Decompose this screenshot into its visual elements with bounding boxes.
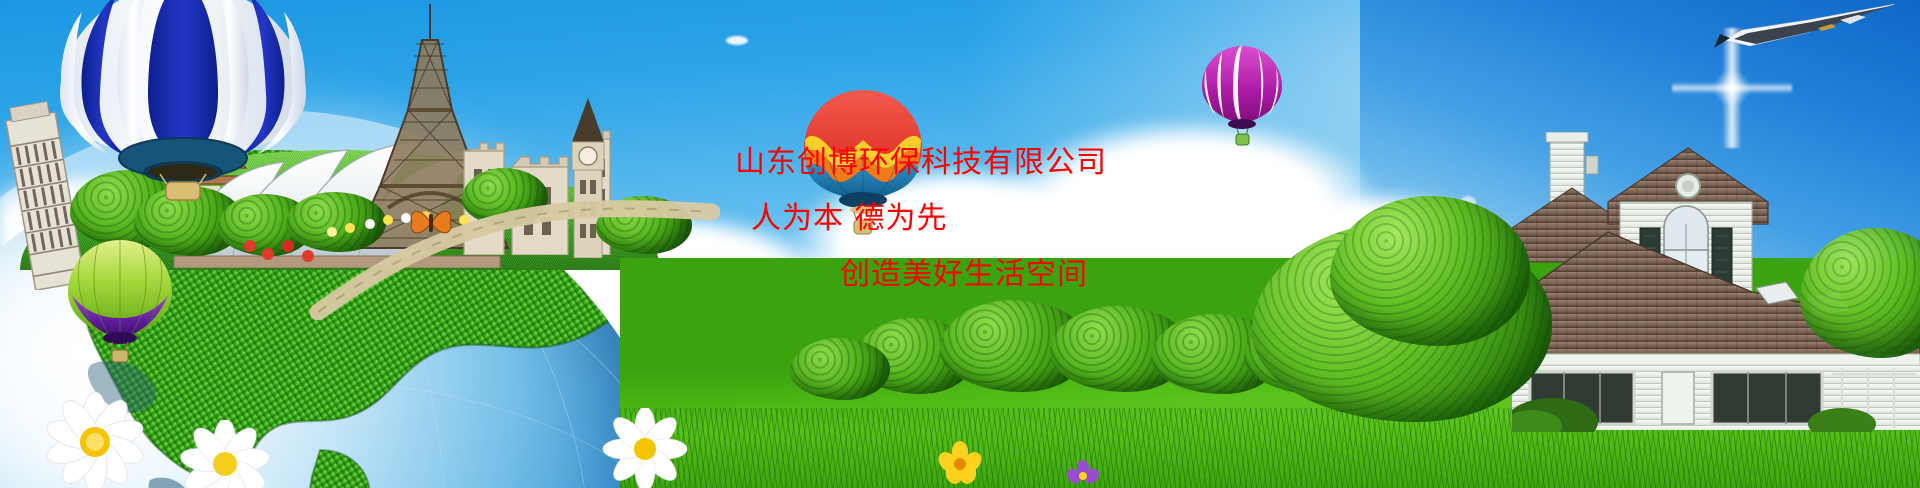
motto-people-first: 人为本 德为先 (751, 204, 948, 234)
balloon-green-purple (62, 238, 178, 366)
company-hero-banner: 山东创博环保科技有限公司 人为本 德为先 创造美好生活空间 (0, 0, 1920, 488)
motto-better-life: 创造美好生活空间 (840, 260, 1088, 290)
field-bush (790, 338, 890, 400)
yellow-wildflower-icon (930, 440, 990, 488)
foreground-tree (1330, 196, 1530, 346)
butterfly-icon (406, 202, 456, 242)
airplane-icon (1690, 2, 1900, 58)
purple-wildflower-icon (1060, 458, 1106, 488)
balloon-purple-white (1196, 44, 1288, 148)
balloon-blue-white (48, 0, 318, 202)
daisy-icon (580, 408, 710, 488)
company-name: 山东创博环保科技有限公司 (735, 148, 1107, 178)
daisy-icon (150, 420, 300, 488)
cloud-speck (726, 36, 748, 45)
